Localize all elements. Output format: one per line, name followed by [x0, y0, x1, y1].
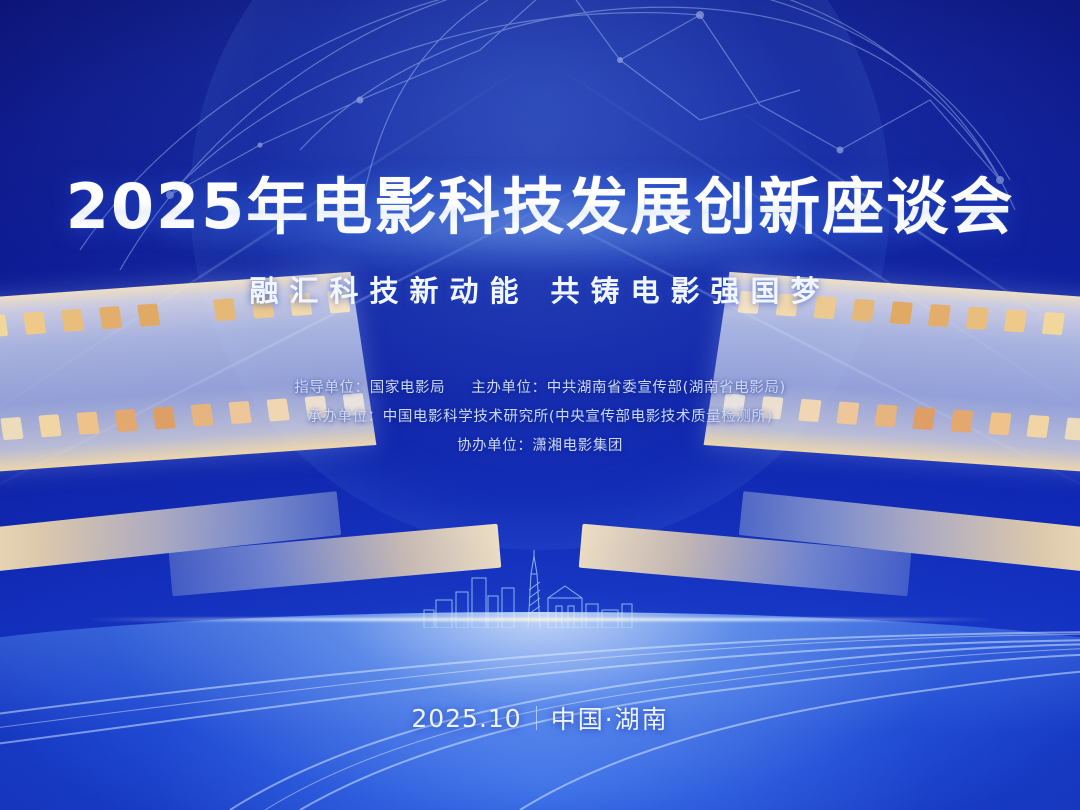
organizer-line-2: 承办单位：中国电影科学技术研究所(中央宣传部电影技术质量检测所) — [0, 403, 1080, 432]
organizer-line-3: 协办单位：潇湘电影集团 — [0, 432, 1080, 461]
page-title: 2025年电影科技发展创新座谈会 — [0, 176, 1080, 238]
poster-content: 2025年电影科技发展创新座谈会 融汇科技新动能 共铸电影强国梦 指导单位：国家… — [0, 0, 1080, 810]
conference-poster: 2025年电影科技发展创新座谈会 融汇科技新动能 共铸电影强国梦 指导单位：国家… — [0, 0, 1080, 810]
organizer-line-1: 指导单位：国家电影局主办单位：中共湖南省委宣传部(湖南省电影局) — [0, 374, 1080, 403]
organizer-block: 指导单位：国家电影局主办单位：中共湖南省委宣传部(湖南省电影局) 承办单位：中国… — [0, 374, 1080, 461]
guidance-unit-label: 指导单位：国家电影局 — [294, 380, 445, 396]
subtitle: 融汇科技新动能 共铸电影强国梦 — [0, 268, 1080, 310]
footer-block: 2025.10 中国·湖南 — [0, 700, 1080, 736]
host-unit-label: 主办单位：中共湖南省委宣传部(湖南省电影局) — [471, 380, 786, 396]
footer-divider — [536, 706, 537, 730]
event-date: 2025.10 — [411, 704, 521, 733]
event-location: 中国·湖南 — [551, 700, 669, 736]
